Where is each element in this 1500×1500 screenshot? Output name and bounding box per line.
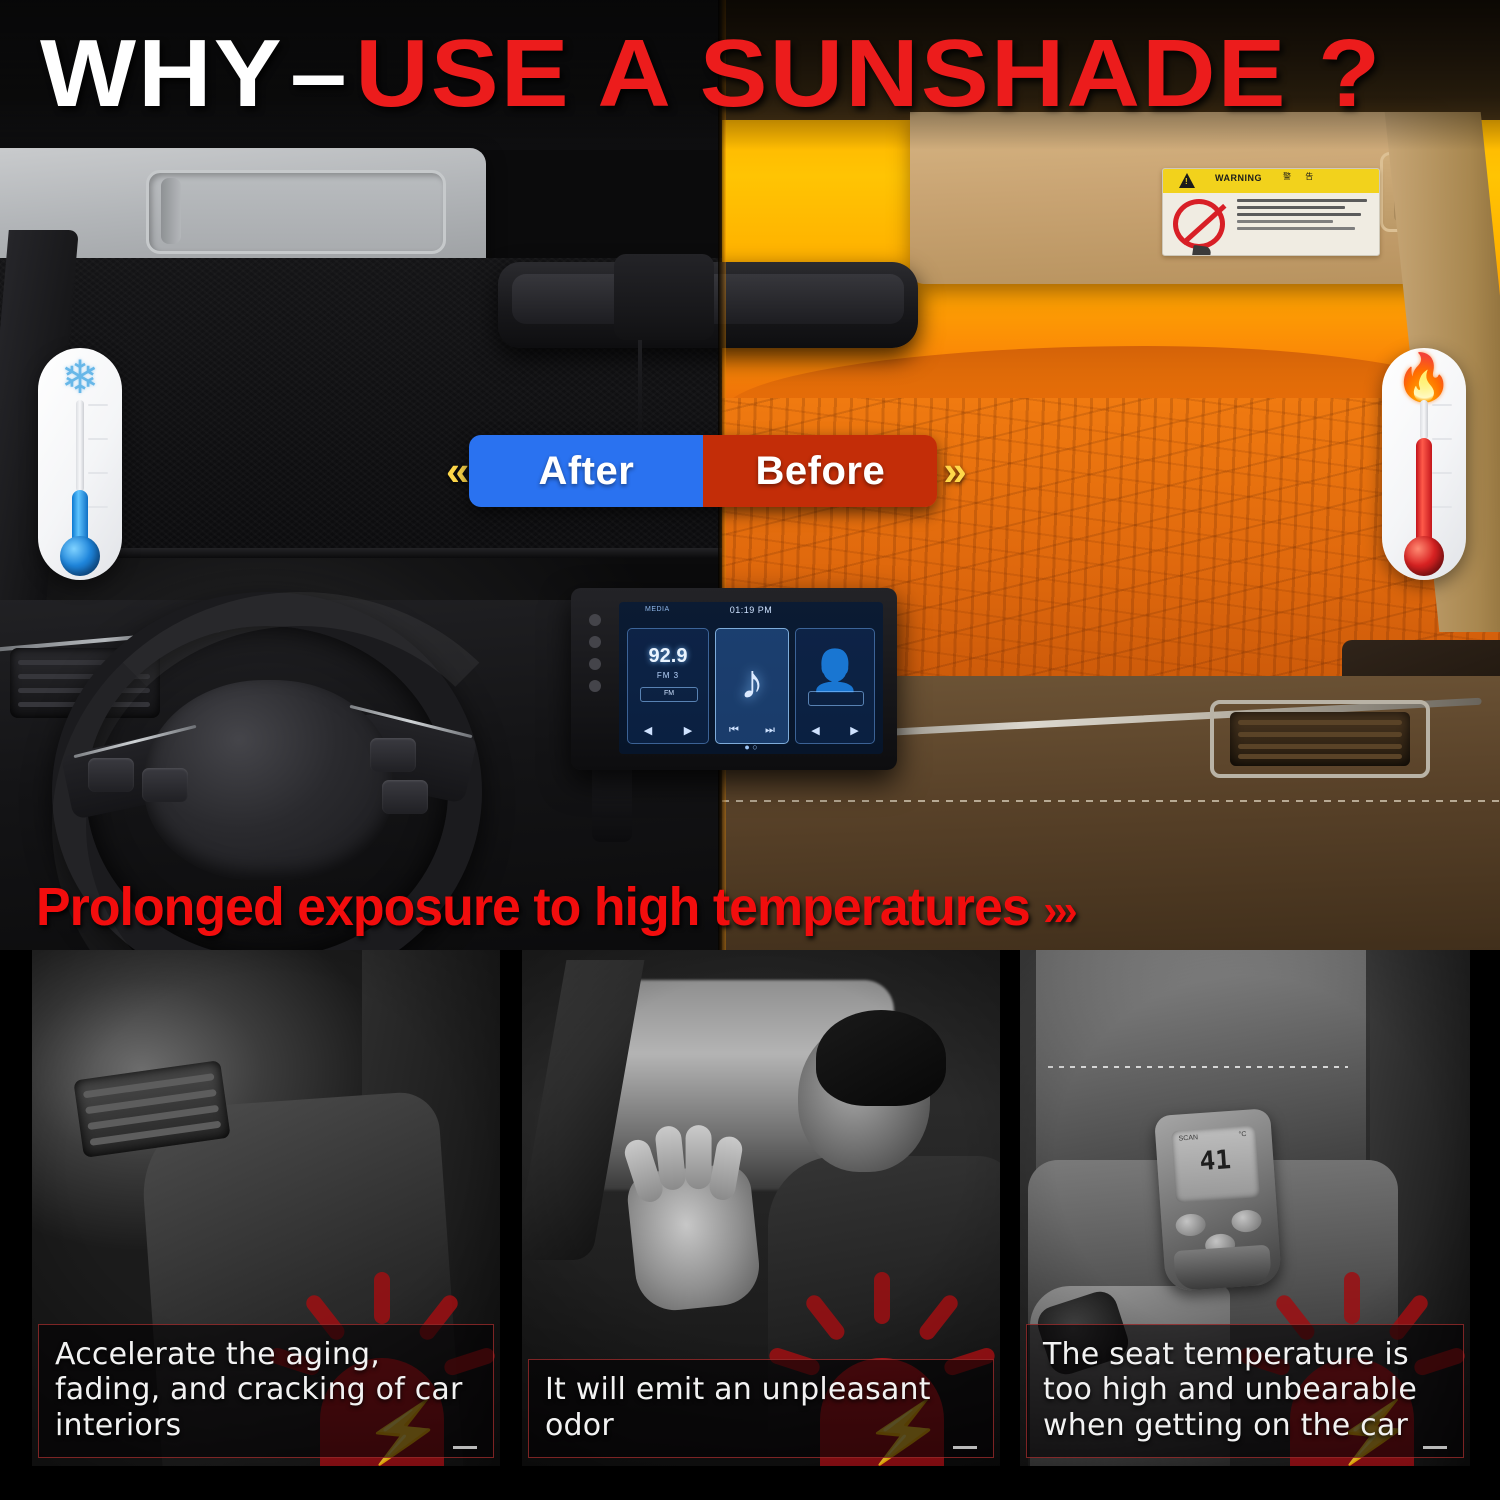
headline-text: Prolonged exposure to high temperatures	[36, 877, 1030, 937]
radio-frequency: 92.9	[628, 645, 708, 668]
panel-seat-temperature: SCAN °C 41	[1020, 950, 1470, 1466]
thermometer-bulb-cold	[60, 536, 100, 576]
page-title: WHY–USE A SUNSHADE ?	[40, 26, 1382, 122]
panel-caption-box: It will emit an unpleasant odor	[528, 1359, 994, 1458]
media-tile[interactable]: ♪ ⏮ ⏭	[715, 628, 789, 744]
no-child-seat-icon	[1173, 199, 1225, 249]
radio-tile[interactable]: 92.9 FM 3 FM ◀ ▶	[627, 628, 709, 744]
radio-preset-label: FM	[641, 690, 697, 697]
visor-tab-left	[161, 178, 181, 244]
panel-caption-text: Accelerate the aging, fading, and cracki…	[55, 1337, 477, 1443]
warning-cjk-text: 警 告	[1283, 171, 1319, 182]
radio-preset-pill[interactable]: FM	[640, 687, 698, 702]
warning-triangle-icon	[1179, 173, 1195, 188]
title-why: WHY	[40, 20, 284, 127]
seek-next-icon[interactable]: ▶	[684, 724, 692, 737]
steering-button-right-1	[370, 738, 416, 772]
page-indicator-dots: ● ○	[619, 742, 883, 752]
panel-caption-text: It will emit an unpleasant odor	[545, 1372, 977, 1443]
panel-caption-box: Accelerate the aging, fading, and cracki…	[38, 1324, 494, 1458]
profile-tile[interactable]: 👤 ◀ ▶	[795, 628, 875, 744]
warning-strip: 警 告 WARNING	[1163, 169, 1380, 193]
snowflake-icon: ❄	[38, 354, 122, 400]
title-dash: –	[284, 20, 355, 127]
warning-body-text-lines	[1237, 199, 1371, 234]
section-headline: Prolonged exposure to high temperatures …	[36, 876, 1074, 938]
cold-thermometer: ❄	[38, 348, 122, 580]
headline-chevrons-icon: ›››	[1043, 886, 1074, 935]
panel-interior-aging: ⚡ Accelerate the aging, fading, and crac…	[32, 950, 500, 1466]
profile-next-icon[interactable]: ▶	[850, 724, 858, 737]
visor-warning-label: 警 告 WARNING	[1162, 168, 1380, 256]
title-overlay: WHY–USE A SUNSHADE ?	[0, 0, 1500, 150]
caption-underline	[953, 1446, 977, 1449]
media-transport-controls[interactable]: ⏮ ⏭	[716, 724, 788, 737]
infotainment-display[interactable]: MEDIA 01:19 PM 92.9 FM 3 FM ◀ ▶ ♪	[619, 602, 883, 754]
infotainment-head-unit: MEDIA 01:19 PM 92.9 FM 3 FM ◀ ▶ ♪	[571, 588, 897, 770]
volume-button-icon[interactable]	[589, 658, 601, 670]
seek-prev-icon[interactable]: ◀	[644, 724, 652, 737]
radio-seek-controls[interactable]: ◀ ▶	[628, 724, 708, 737]
thermometer-bulb-hot	[1404, 536, 1444, 576]
child-seat-glyph	[1191, 245, 1212, 256]
caption-underline	[453, 1446, 477, 1449]
before-after-pills: After Before	[469, 435, 937, 507]
steering-button-left-2	[142, 768, 188, 802]
before-after-toggle: « After Before »	[446, 430, 1006, 512]
power-button-icon[interactable]	[589, 614, 601, 626]
dash-stitching	[722, 800, 1500, 802]
steering-button-right-2	[382, 780, 428, 814]
panel-caption-text: The seat temperature is too high and unb…	[1043, 1337, 1447, 1443]
screen-side-buttons[interactable]	[577, 604, 613, 754]
title-use-a-sunshade: USE A SUNSHADE ?	[355, 20, 1382, 127]
status-bar: MEDIA 01:19 PM	[619, 602, 883, 622]
hot-thermometer: 🔥	[1382, 348, 1466, 580]
visor-pocket-left	[146, 170, 446, 254]
air-vent-right	[1230, 712, 1410, 766]
profile-arrows[interactable]: ◀ ▶	[796, 724, 874, 737]
thermometer-ticks-cold	[82, 404, 108, 538]
thermometer-ticks-hot	[1426, 404, 1452, 538]
screen-mount-bracket	[592, 762, 632, 842]
flame-icon: 🔥	[1382, 354, 1466, 400]
media-next-icon[interactable]: ⏭	[765, 724, 775, 737]
radio-band: FM 3	[628, 671, 708, 680]
profile-prev-icon[interactable]: ◀	[811, 724, 819, 737]
clock: 01:19 PM	[619, 605, 883, 615]
before-badge[interactable]: Before	[703, 435, 937, 507]
steering-button-left-1	[88, 758, 134, 792]
media-prev-icon[interactable]: ⏮	[729, 724, 739, 737]
after-badge[interactable]: After	[469, 435, 703, 507]
panel-caption-box: The seat temperature is too high and unb…	[1026, 1324, 1464, 1458]
infographic-root: 警 告 WARNING	[0, 0, 1500, 1500]
home-button-icon[interactable]	[589, 636, 601, 648]
chevron-right-icon: »	[943, 450, 960, 492]
rearview-mirror-mount	[614, 254, 714, 340]
caption-underline	[1423, 1446, 1447, 1449]
panel-unpleasant-odor: ⚡ It will emit an unpleasant odor	[522, 950, 1000, 1466]
person-icon: 👤	[796, 651, 874, 691]
warning-heading: WARNING	[1215, 173, 1262, 183]
brightness-button-icon[interactable]	[589, 680, 601, 692]
profile-pill[interactable]	[808, 691, 864, 706]
chevron-left-icon: «	[446, 450, 463, 492]
music-note-icon: ♪	[716, 659, 788, 707]
consequence-panels: ⚡ Accelerate the aging, fading, and crac…	[0, 950, 1500, 1500]
